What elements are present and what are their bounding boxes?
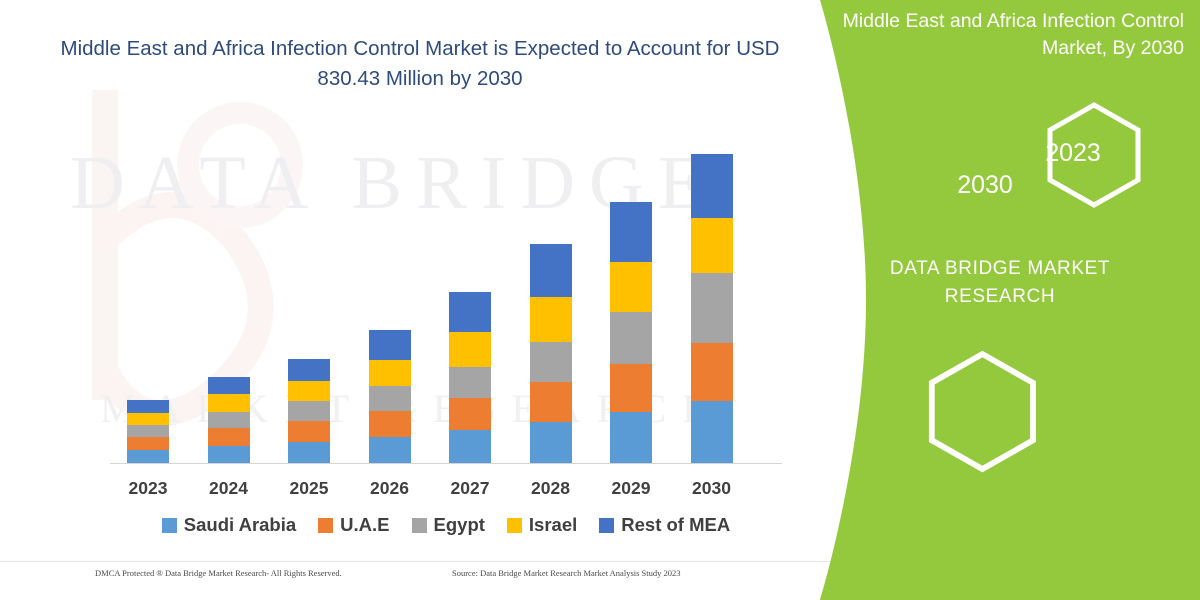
legend-item-egypt[interactable]: Egypt [412,514,485,536]
brand-panel-name: DATA BRIDGE MARKET RESEARCH [820,255,1180,311]
x-axis-label-2024: 2024 [194,478,264,499]
legend-item-restofmea[interactable]: Rest of MEA [599,514,730,536]
x-axis-line [110,463,782,464]
legend-label: Egypt [434,514,485,536]
bar-segment-2029-saudiarabia[interactable] [610,412,652,463]
legend-swatch-icon [507,518,522,533]
bar-2025[interactable] [288,359,330,463]
bar-2024[interactable] [208,377,250,463]
bar-segment-2030-egypt[interactable] [691,273,733,343]
bar-segment-2027-egypt[interactable] [449,367,491,398]
x-axis-label-2030: 2030 [677,478,747,499]
bar-segment-2023-uae[interactable] [127,437,169,450]
x-axis-label-2026: 2026 [355,478,425,499]
bar-segment-2025-uae[interactable] [288,421,330,442]
bar-segment-2027-restofmea[interactable] [449,292,491,332]
bar-segment-2025-saudiarabia[interactable] [288,442,330,463]
brand-line-2: RESEARCH [945,286,1055,307]
brand-line-1: DATA BRIDGE MARKET [890,258,1110,279]
bar-segment-2029-restofmea[interactable] [610,202,652,262]
footer-copyright: DMCA Protected ® Data Bridge Market Rese… [95,568,342,578]
legend-label: U.A.E [340,514,389,536]
bar-2029[interactable] [610,202,652,463]
bar-segment-2029-egypt[interactable] [610,312,652,364]
x-axis-label-2027: 2027 [435,478,505,499]
bar-2026[interactable] [369,330,411,463]
bar-segment-2025-israel[interactable] [288,381,330,401]
bar-segment-2028-israel[interactable] [530,297,572,342]
bar-segment-2027-uae[interactable] [449,398,491,430]
chart-legend: Saudi ArabiaU.A.EEgyptIsraelRest of MEA [110,512,782,538]
bar-segment-2028-uae[interactable] [530,382,572,422]
bar-segment-2026-israel[interactable] [369,360,411,386]
bar-segment-2030-uae[interactable] [691,343,733,401]
bar-2023[interactable] [127,400,169,463]
legend-label: Israel [529,514,577,536]
bar-segment-2024-saudiarabia[interactable] [208,446,250,463]
bar-segment-2026-egypt[interactable] [369,386,411,411]
footer-source: Source: Data Bridge Market Research Mark… [452,568,681,578]
bar-segment-2025-egypt[interactable] [288,401,330,421]
bar-segment-2027-saudiarabia[interactable] [449,430,491,463]
bar-segment-2024-restofmea[interactable] [208,377,250,394]
bar-segment-2023-israel[interactable] [127,413,169,425]
x-axis-label-2028: 2028 [516,478,586,499]
legend-swatch-icon [412,518,427,533]
bar-segment-2023-egypt[interactable] [127,425,169,437]
hexagon-2023-label: 2023 [1045,139,1101,167]
legend-item-israel[interactable]: Israel [507,514,577,536]
bar-segment-2030-saudiarabia[interactable] [691,401,733,463]
bar-segment-2025-restofmea[interactable] [288,359,330,381]
bar-segment-2030-israel[interactable] [691,218,733,273]
bar-segment-2029-israel[interactable] [610,262,652,312]
bar-segment-2028-restofmea[interactable] [530,244,572,297]
bar-segment-2023-restofmea[interactable] [127,400,169,413]
bar-segment-2026-saudiarabia[interactable] [369,437,411,463]
legend-label: Saudi Arabia [184,514,296,536]
legend-item-saudiarabia[interactable]: Saudi Arabia [162,514,296,536]
chart-plot-area: 20232024202520262027202820292030 [0,0,830,600]
bar-2028[interactable] [530,244,572,463]
x-axis-labels: 20232024202520262027202820292030 [110,478,782,504]
bar-segment-2029-uae[interactable] [610,364,652,412]
footer: DMCA Protected ® Data Bridge Market Rese… [0,566,830,590]
bar-2030[interactable] [691,154,733,463]
hexagon-2030-icon [932,354,1033,469]
legend-label: Rest of MEA [621,514,730,536]
bar-segment-2026-restofmea[interactable] [369,330,411,360]
bar-segment-2030-restofmea[interactable] [691,154,733,218]
hexagon-2030-label: 2030 [957,171,1013,199]
legend-swatch-icon [162,518,177,533]
brand-panel: 2030 2023 Middle East and Africa Infecti… [780,0,1200,600]
bar-segment-2027-israel[interactable] [449,332,491,367]
bar-segment-2028-egypt[interactable] [530,342,572,382]
brand-panel-title: Middle East and Africa Infection Control… [800,8,1184,62]
x-axis-label-2023: 2023 [113,478,183,499]
footer-divider [0,561,830,562]
x-axis-label-2029: 2029 [596,478,666,499]
x-axis-label-2025: 2025 [274,478,344,499]
bar-segment-2024-israel[interactable] [208,394,250,412]
legend-item-uae[interactable]: U.A.E [318,514,389,536]
bar-segment-2023-saudiarabia[interactable] [127,450,169,463]
legend-swatch-icon [318,518,333,533]
legend-swatch-icon [599,518,614,533]
bar-segment-2024-uae[interactable] [208,428,250,446]
bar-segment-2026-uae[interactable] [369,411,411,437]
bar-2027[interactable] [449,292,491,463]
bar-segment-2028-saudiarabia[interactable] [530,422,572,463]
bar-segment-2024-egypt[interactable] [208,412,250,428]
